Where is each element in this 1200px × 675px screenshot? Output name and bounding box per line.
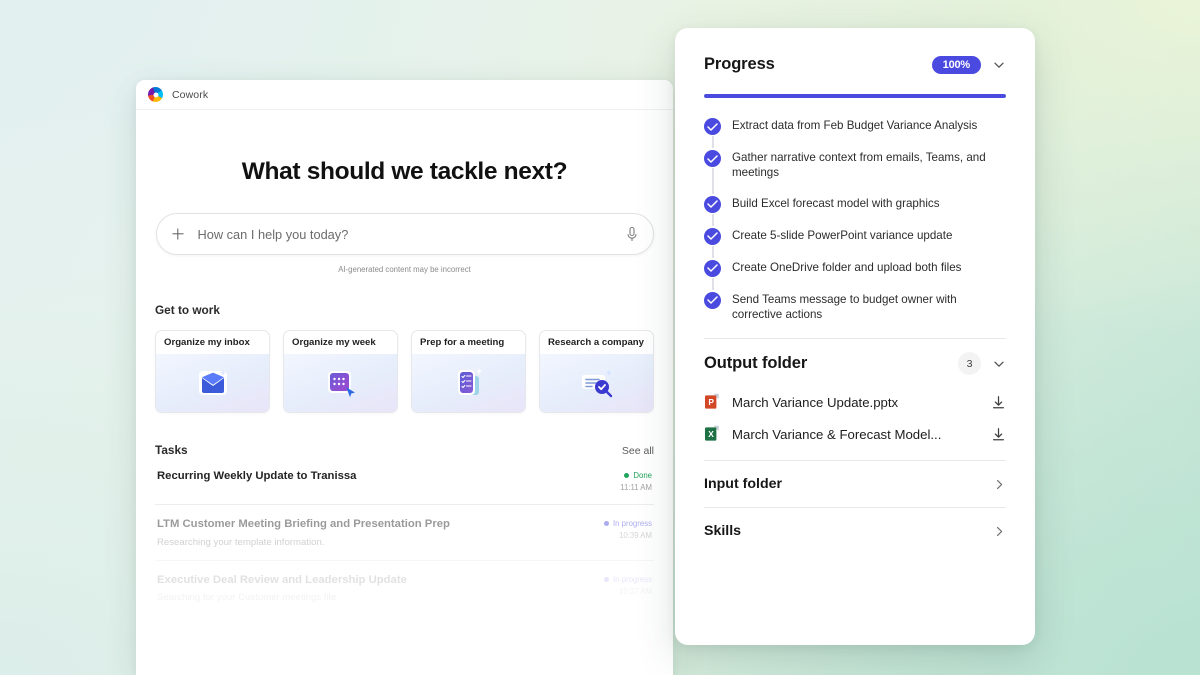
task-content: LTM Customer Meeting Briefing and Presen… [157, 518, 450, 548]
status-badge: In progress [604, 575, 652, 584]
progress-checklist: Extract data from Feb Budget Variance An… [704, 117, 1006, 322]
check-circle-icon [704, 118, 721, 135]
checklist-item-label: Create OneDrive folder and upload both f… [732, 259, 961, 277]
work-card-title: Organize my week [284, 331, 397, 354]
list-item[interactable]: P March Variance Update.pptx [704, 386, 1006, 418]
cowork-titlebar: Cowork [136, 80, 673, 110]
output-header-right: 3 [958, 352, 1006, 375]
tasks-header: Tasks See all [155, 443, 654, 457]
progress-bar-fill [704, 94, 1006, 98]
chevron-down-icon[interactable] [992, 58, 1006, 72]
task-meta: Done 11:11 AM [620, 470, 652, 492]
task-meta: In progress 10:39 AM [604, 518, 652, 540]
file-name-label: March Variance & Forecast Model... [732, 427, 980, 442]
task-timestamp: 10:37 AM [604, 587, 652, 596]
work-card-title: Organize my inbox [156, 331, 269, 354]
input-folder-label: Input folder [704, 476, 782, 492]
status-dot-icon [624, 473, 629, 478]
document-search-check-icon [540, 354, 653, 412]
work-card-prep-meeting[interactable]: Prep for a meeting [411, 330, 526, 413]
work-card-research-company[interactable]: Research a company [539, 330, 654, 413]
powerpoint-file-icon: P [704, 393, 721, 411]
cowork-content: What should we tackle next? AI-generated… [136, 158, 673, 675]
chevron-right-icon[interactable] [993, 525, 1006, 538]
check-circle-icon [704, 292, 721, 309]
screen-background: Cowork What should we tackle next? AI-ge… [0, 0, 1200, 675]
file-name-label: March Variance Update.pptx [732, 395, 980, 410]
chevron-right-icon[interactable] [993, 478, 1006, 491]
cowork-logo-icon [148, 87, 163, 102]
output-folder-section: Output folder 3 P March Variance Update.… [704, 338, 1006, 450]
table-row[interactable]: LTM Customer Meeting Briefing and Presen… [155, 505, 654, 561]
progress-header-right: 100% [932, 56, 1006, 74]
list-item: Extract data from Feb Budget Variance An… [704, 117, 1006, 149]
check-circle-icon [704, 196, 721, 213]
checklist-sparkle-icon [412, 354, 525, 412]
task-content: Recurring Weekly Update to Tranissa [157, 470, 356, 484]
check-circle-icon [704, 228, 721, 245]
output-folder-header[interactable]: Output folder 3 [704, 339, 1006, 386]
checklist-item-label: Gather narrative context from emails, Te… [732, 149, 1006, 181]
checklist-item-label: Extract data from Feb Budget Variance An… [732, 117, 977, 135]
list-item: Create 5-slide PowerPoint variance updat… [704, 227, 1006, 259]
status-label: Done [633, 471, 652, 480]
task-title: Executive Deal Review and Leadership Upd… [157, 574, 407, 588]
download-icon[interactable] [991, 427, 1006, 442]
task-subtitle: Researching your template information. [157, 537, 450, 548]
checklist-item-label: Send Teams message to budget owner with … [732, 291, 1006, 323]
status-badge: In progress [604, 519, 652, 528]
plus-icon[interactable] [168, 224, 189, 245]
skills-label: Skills [704, 523, 741, 539]
progress-title: Progress [704, 55, 775, 74]
task-content: Executive Deal Review and Leadership Upd… [157, 574, 407, 604]
list-item: Gather narrative context from emails, Te… [704, 149, 1006, 195]
work-card-organize-week[interactable]: Organize my week [283, 330, 398, 413]
table-row[interactable]: Recurring Weekly Update to Tranissa Done… [155, 457, 654, 505]
progress-bar [704, 94, 1006, 98]
calendar-cursor-icon [284, 354, 397, 412]
output-folder-title: Output folder [704, 354, 807, 373]
list-item: Build Excel forecast model with graphics [704, 195, 1006, 227]
skills-row[interactable]: Skills [704, 508, 1006, 554]
task-timestamp: 11:11 AM [620, 483, 652, 492]
composer-bar[interactable] [156, 213, 654, 255]
table-row[interactable]: Executive Deal Review and Leadership Upd… [155, 561, 654, 616]
download-icon[interactable] [991, 395, 1006, 410]
progress-percent-badge: 100% [932, 56, 981, 74]
list-item[interactable]: X March Variance & Forecast Model... [704, 418, 1006, 450]
output-count-badge: 3 [958, 352, 981, 375]
svg-text:P: P [708, 397, 714, 407]
app-name-label: Cowork [172, 89, 208, 101]
input-folder-row[interactable]: Input folder [704, 461, 1006, 507]
composer-input[interactable] [198, 227, 625, 242]
check-circle-icon [704, 150, 721, 167]
excel-file-icon: X [704, 425, 721, 443]
chevron-down-icon[interactable] [992, 357, 1006, 371]
status-dot-icon [604, 577, 609, 582]
status-label: In progress [613, 575, 652, 584]
status-dot-icon [604, 521, 609, 526]
svg-text:X: X [708, 429, 714, 439]
task-subtitle: Searching for your Customer meetings fil… [157, 592, 407, 603]
work-card-title: Prep for a meeting [412, 331, 525, 354]
page-title: What should we tackle next? [155, 158, 654, 186]
list-item: Create OneDrive folder and upload both f… [704, 259, 1006, 291]
task-meta: In progress 10:37 AM [604, 574, 652, 596]
progress-panel: Progress 100% Extract data from Feb Budg… [675, 28, 1035, 645]
checklist-item-label: Build Excel forecast model with graphics [732, 195, 940, 213]
status-badge: Done [620, 471, 652, 480]
get-to-work-card-row: Organize my inbox Organize my week [155, 330, 654, 413]
envelope-sparkle-icon [156, 354, 269, 412]
work-card-title: Research a company [540, 331, 653, 354]
work-card-organize-inbox[interactable]: Organize my inbox [155, 330, 270, 413]
status-label: In progress [613, 519, 652, 528]
get-to-work-label: Get to work [155, 303, 654, 317]
see-all-link[interactable]: See all [622, 445, 654, 457]
tasks-label: Tasks [155, 443, 188, 457]
progress-section-header[interactable]: Progress 100% [704, 28, 1006, 74]
ai-disclaimer-text: AI-generated content may be incorrect [155, 265, 654, 274]
list-item: Send Teams message to budget owner with … [704, 291, 1006, 323]
microphone-icon[interactable] [625, 226, 639, 243]
task-timestamp: 10:39 AM [604, 531, 652, 540]
checklist-item-label: Create 5-slide PowerPoint variance updat… [732, 227, 952, 245]
task-title: Recurring Weekly Update to Tranissa [157, 470, 356, 484]
cowork-window: Cowork What should we tackle next? AI-ge… [136, 80, 673, 675]
check-circle-icon [704, 260, 721, 277]
task-title: LTM Customer Meeting Briefing and Presen… [157, 518, 450, 532]
